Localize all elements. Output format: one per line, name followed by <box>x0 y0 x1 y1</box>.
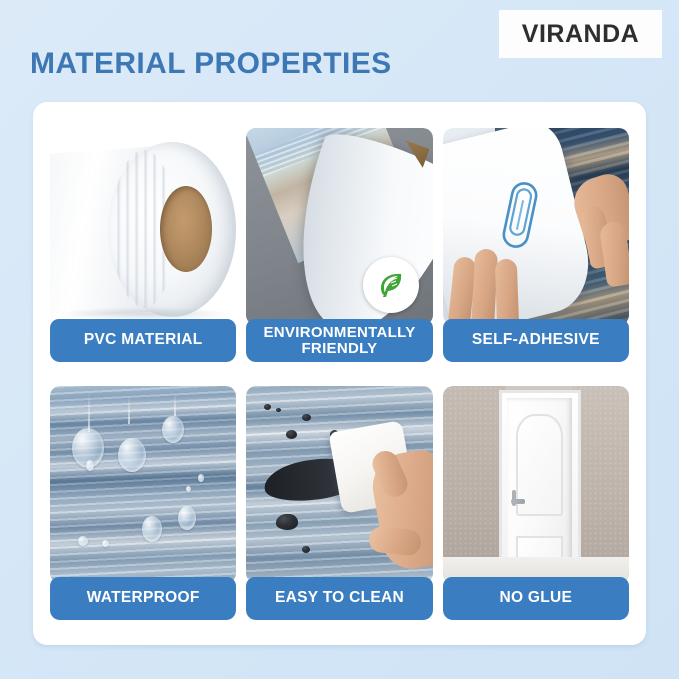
feature-card-pvc-material[interactable]: PVC MATERIAL <box>50 128 236 362</box>
water-droplet <box>198 474 204 482</box>
ink-stain <box>276 514 298 530</box>
door <box>507 398 572 579</box>
feature-label-pvc-material: PVC MATERIAL <box>50 319 236 362</box>
water-droplet <box>178 506 196 530</box>
hand <box>351 444 433 583</box>
page-title: MATERIAL PROPERTIES <box>30 47 392 81</box>
leaf-icon <box>374 268 408 302</box>
no-glue-image <box>443 386 629 583</box>
pvc-roll-image <box>50 128 236 325</box>
left-hand <box>451 241 535 325</box>
features-panel: PVC MATERIAL ENVIRONMENTALLYFRI <box>33 102 646 645</box>
feature-card-easy-to-clean[interactable]: EASY TO CLEAN <box>246 386 432 620</box>
feature-label-self-adhesive: SELF-ADHESIVE <box>443 319 629 362</box>
feature-card-waterproof[interactable]: WATERPROOF <box>50 386 236 620</box>
water-droplet <box>186 486 191 492</box>
water-droplet <box>78 536 88 546</box>
leaf-badge <box>363 257 419 313</box>
door-handle <box>511 499 525 504</box>
feature-card-no-glue[interactable]: NO GLUE <box>443 386 629 620</box>
self-adhesive-image <box>443 128 629 325</box>
features-grid: PVC MATERIAL ENVIRONMENTALLYFRI <box>50 128 629 620</box>
waterproof-image <box>50 386 236 583</box>
right-hand <box>557 176 629 286</box>
water-droplet <box>118 438 146 472</box>
page-header: MATERIAL PROPERTIES VIRANDA <box>0 0 679 102</box>
roll-core <box>160 186 212 272</box>
water-droplet <box>102 540 109 547</box>
water-droplet <box>162 416 184 443</box>
water-droplet <box>142 516 162 542</box>
feature-label-no-glue: NO GLUE <box>443 577 629 620</box>
brand-name: VIRANDA <box>522 20 639 49</box>
brand-logo: VIRANDA <box>499 10 662 58</box>
feature-label-waterproof: WATERPROOF <box>50 577 236 620</box>
eco-roll-image <box>246 128 432 325</box>
water-droplet <box>86 460 94 471</box>
easy-to-clean-image <box>246 386 432 583</box>
feature-label-easy-to-clean: EASY TO CLEAN <box>246 577 432 620</box>
feature-card-environmentally-friendly[interactable]: ENVIRONMENTALLYFRIENDLY <box>246 128 432 362</box>
feature-card-self-adhesive[interactable]: SELF-ADHESIVE <box>443 128 629 362</box>
feature-label-environmentally-friendly: ENVIRONMENTALLYFRIENDLY <box>246 319 432 362</box>
